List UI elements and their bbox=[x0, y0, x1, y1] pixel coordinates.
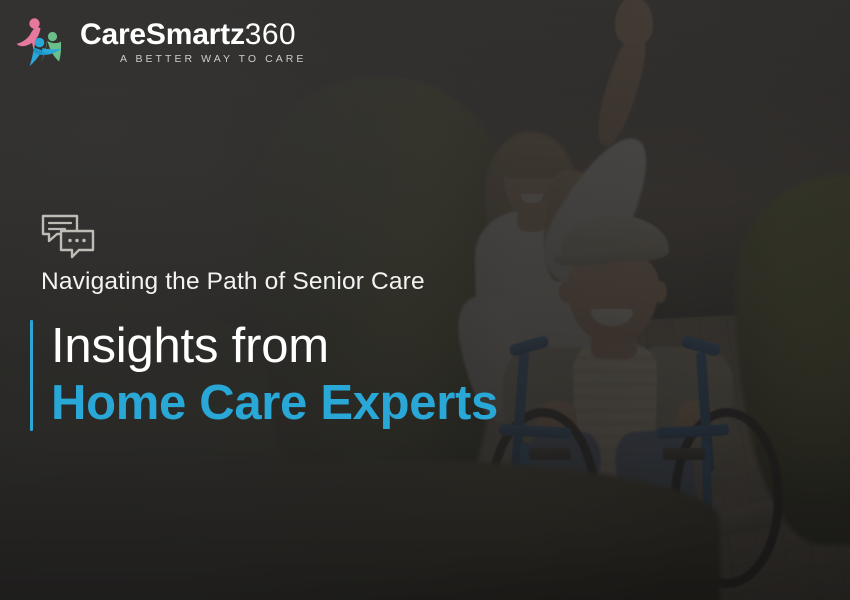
logo-wordmark-bold: CareSmartz bbox=[80, 18, 245, 51]
accent-bar bbox=[30, 320, 33, 431]
caresmartz360-logo[interactable]: CareSmartz360 A BETTER WAY TO CARE bbox=[14, 16, 306, 68]
logo-tagline: A BETTER WAY TO CARE bbox=[80, 53, 306, 65]
caresmartz-logo-mark-icon bbox=[14, 16, 70, 68]
hero-headline: Insights from Home Care Experts bbox=[51, 320, 498, 431]
logo-wordmark-number: 360 bbox=[245, 18, 296, 51]
hero-subtitle: Navigating the Path of Senior Care bbox=[41, 268, 425, 296]
hero-headline-line-2: Home Care Experts bbox=[51, 376, 498, 431]
logo-text-block: CareSmartz360 A BETTER WAY TO CARE bbox=[80, 19, 306, 66]
hero-headline-block: Insights from Home Care Experts bbox=[30, 320, 498, 431]
blog-hero-banner: CareSmartz360 A BETTER WAY TO CARE Navig… bbox=[0, 0, 850, 600]
hero-headline-line-1: Insights from bbox=[51, 320, 498, 374]
banner-content: CareSmartz360 A BETTER WAY TO CARE Navig… bbox=[0, 0, 850, 600]
logo-wordmark: CareSmartz360 bbox=[80, 19, 306, 51]
speech-bubbles-icon bbox=[41, 214, 95, 261]
